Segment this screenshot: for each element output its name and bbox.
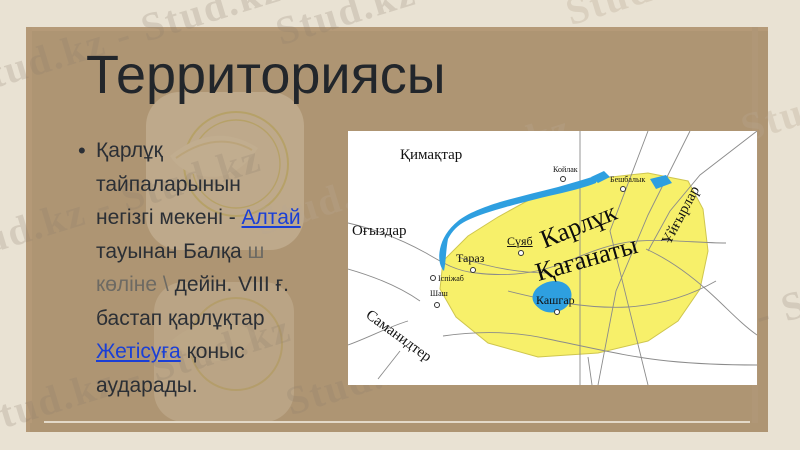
body-text-block: • Қарлұқ тайпаларынын негізгі мекені - А…	[78, 134, 318, 402]
map-image[interactable]: Қимақтар Оғыздар Ұйғырлар Саманидтер Кар…	[348, 131, 757, 385]
link-zhetisu[interactable]: Жетісуға	[96, 340, 181, 363]
city-marker-shash	[434, 302, 440, 308]
paper-left-edge	[26, 27, 32, 432]
slide-canvas: Stud.kz - Stud.kz Stud.kz - Stud.kz Stud…	[0, 0, 800, 450]
list-item: • Қарлұқ тайпаларынын негізгі мекені - А…	[78, 134, 318, 402]
bullet-glyph: •	[78, 134, 96, 167]
city-marker-beshbalyk	[620, 186, 626, 192]
city-marker-koylak	[560, 176, 566, 182]
map-label-koylak: Койлак	[553, 165, 578, 174]
paper-top-edge	[26, 27, 768, 31]
map-label-kimaktar: Қимақтар	[400, 147, 462, 164]
city-marker-kashgar	[554, 309, 560, 315]
map-label-suyab: Сүяб	[507, 234, 533, 249]
map-label-kashgar: Кашгар	[536, 293, 575, 308]
text-run: Қарлұқ тайпаларынын негізгі мекені -	[96, 139, 242, 229]
city-marker-suyab	[518, 250, 524, 256]
city-marker-ispijab	[430, 275, 436, 281]
map-label-ispijab: Іспіжаб	[438, 274, 464, 283]
page-title: Территориясы	[86, 44, 446, 106]
bullet-paragraph: Қарлұқ тайпаларынын негізгі мекені - Алт…	[96, 134, 301, 402]
map-label-ogyzdar: Оғыздар	[352, 223, 407, 240]
map-label-shash: Шаш	[430, 289, 448, 298]
map-label-taraz: Тараз	[456, 251, 484, 266]
link-altai[interactable]: Алтай	[242, 206, 301, 229]
city-marker-taraz	[470, 267, 476, 273]
paper-bottom-edge	[30, 423, 760, 432]
map-label-beshbalyk: Бешбалык	[610, 175, 645, 184]
text-run: тауынан Балқа	[96, 240, 242, 263]
